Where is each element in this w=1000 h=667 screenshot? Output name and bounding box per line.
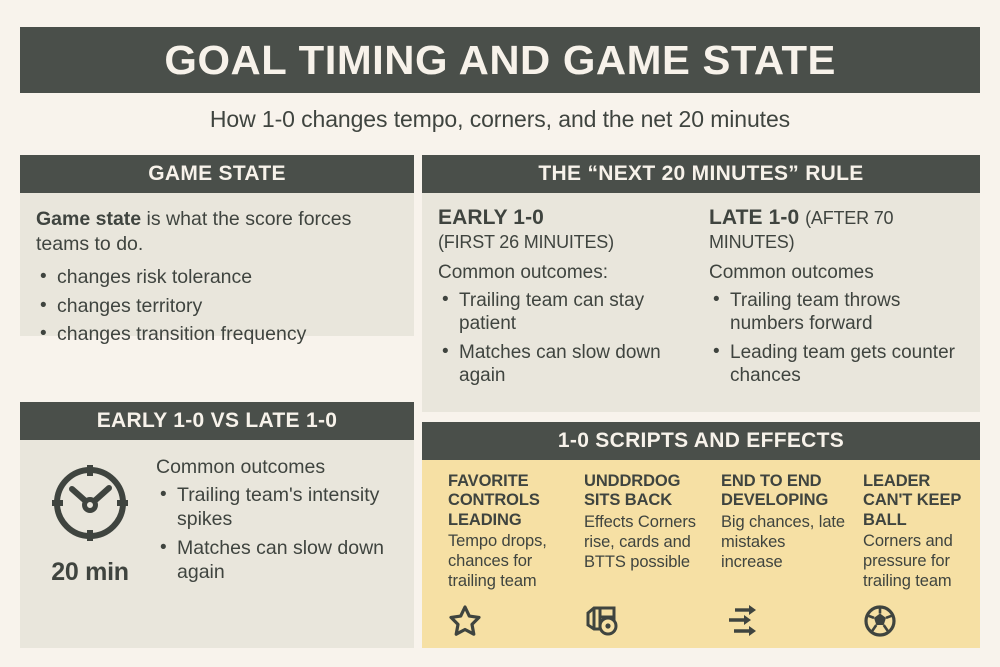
script-body-text: Big chances, late mistakes increase: [721, 513, 851, 572]
panel-body-next-20-rule: EARLY 1-0(FIRST 26 MINUITES) Common outc…: [422, 193, 980, 412]
next20-late-bullet-list: Trailing team throws numbers forward Lea…: [709, 289, 966, 388]
infographic-root: GOAL TIMING AND GAME STATE How 1-0 chang…: [0, 0, 1000, 667]
next20-late-title: LATE 1-0 (AFTER 70 MINUTES): [709, 206, 966, 255]
next20-late-subheading: Common outcomes: [709, 262, 966, 284]
panel-header-next-20-rule: THE “NEXT 20 MINUTES” RULE: [422, 155, 980, 193]
panel-body-scripts-and-effects: FAVORITE CONTROLS LEADING Tempo drops, c…: [422, 460, 980, 648]
panel-header-label: 1-0 SCRIPTS AND EFFECTS: [558, 429, 844, 453]
list-item: changes risk tolerance: [36, 266, 398, 290]
panel-header-label: EARLY 1-0 VS LATE 1-0: [97, 409, 338, 433]
game-state-bullet-list: changes risk tolerance changes territory…: [36, 266, 398, 347]
list-item: Leading team gets counter chances: [709, 341, 966, 387]
script-column-end-to-end-developing: END TO END DEVELOPING Big chances, late …: [721, 472, 851, 638]
game-state-lead-bold: Game state: [36, 208, 141, 230]
list-item: Trailing team's intensity spikes: [156, 484, 400, 532]
script-column-underdog-sits-back: UNDDRDOG SITS BACK Effects Corners rise,…: [584, 472, 709, 638]
script-heading: LEADER CAN'T KEEP BALL: [863, 472, 970, 530]
early-late-bullet-list: Trailing team's intensity spikes Matches…: [156, 484, 400, 584]
panel-game-state: GAME STATE Game state is what the score …: [20, 155, 414, 336]
next20-early-subheading: Common outcomes:: [438, 262, 695, 284]
title-bar: GOAL TIMING AND GAME STATE: [20, 27, 980, 93]
next20-late-title-strong: LATE 1-0: [709, 206, 799, 229]
page-subtitle: How 1-0 changes tempo, corners, and the …: [0, 106, 1000, 133]
next20-early-title: EARLY 1-0(FIRST 26 MINUITES): [438, 206, 695, 255]
list-item: Trailing team can stay patient: [438, 289, 695, 335]
early-late-heading: Common outcomes: [156, 456, 400, 479]
panel-header-label: THE “NEXT 20 MINUTES” RULE: [538, 162, 863, 186]
script-heading: UNDDRDOG SITS BACK: [584, 472, 709, 511]
clock-icon: [47, 460, 133, 546]
transition-arrows-icon: [721, 590, 851, 638]
list-item: Trailing team throws numbers forward: [709, 289, 966, 335]
script-body-text: Corners and pressure for trailing team: [863, 532, 970, 591]
clock-time-value: 20: [51, 558, 78, 586]
game-state-lead: Game state is what the score forces team…: [36, 207, 398, 257]
script-body-text: Effects Corners rise, cards and BTTS pos…: [584, 513, 709, 572]
clock-time-label: 20 min: [51, 558, 128, 587]
early-late-text-column: Common outcomes Trailing team's intensit…: [156, 454, 400, 638]
star-icon: [448, 592, 572, 638]
script-body-text: Tempo drops, chances for trailing team: [448, 532, 572, 591]
next20-column-late: LATE 1-0 (AFTER 70 MINUTES) Common outco…: [709, 206, 966, 402]
script-column-favorite-controls-leading: FAVORITE CONTROLS LEADING Tempo drops, c…: [448, 472, 572, 638]
panel-body-game-state: Game state is what the score forces team…: [20, 193, 414, 336]
panel-early-late: EARLY 1-0 VS LATE 1-0 20 min: [20, 402, 414, 648]
list-item: changes territory: [36, 295, 398, 319]
panel-header-scripts-and-effects: 1-0 SCRIPTS AND EFFECTS: [422, 422, 980, 460]
list-item: Matches can slow down again: [156, 537, 400, 585]
bus-icon: [584, 590, 709, 638]
script-heading: END TO END DEVELOPING: [721, 472, 851, 511]
next20-column-early: EARLY 1-0(FIRST 26 MINUITES) Common outc…: [438, 206, 695, 402]
list-item: Matches can slow down again: [438, 341, 695, 387]
clock-time-unit: min: [79, 558, 129, 586]
list-item: changes transition frequency: [36, 323, 398, 347]
panel-body-early-late: 20 min Common outcomes Trailing team's i…: [20, 440, 414, 648]
script-heading: FAVORITE CONTROLS LEADING: [448, 472, 572, 530]
panel-scripts-and-effects: 1-0 SCRIPTS AND EFFECTS FAVORITE CONTROL…: [422, 422, 980, 648]
panel-header-game-state: GAME STATE: [20, 155, 414, 193]
next20-early-title-strong: EARLY 1-0: [438, 206, 544, 229]
panel-next-20-rule: THE “NEXT 20 MINUTES” RULE EARLY 1-0(FIR…: [422, 155, 980, 412]
clock-column: 20 min: [34, 454, 146, 638]
next20-early-bullet-list: Trailing team can stay patient Matches c…: [438, 289, 695, 388]
panel-header-early-late: EARLY 1-0 VS LATE 1-0: [20, 402, 414, 440]
next20-early-title-paren: (FIRST 26 MINUITES): [438, 232, 614, 252]
soccer-ball-icon: [863, 592, 970, 638]
page-title: GOAL TIMING AND GAME STATE: [164, 40, 836, 81]
script-column-leader-cant-keep-ball: LEADER CAN'T KEEP BALL Corners and press…: [863, 472, 970, 638]
panel-header-label: GAME STATE: [148, 162, 286, 186]
